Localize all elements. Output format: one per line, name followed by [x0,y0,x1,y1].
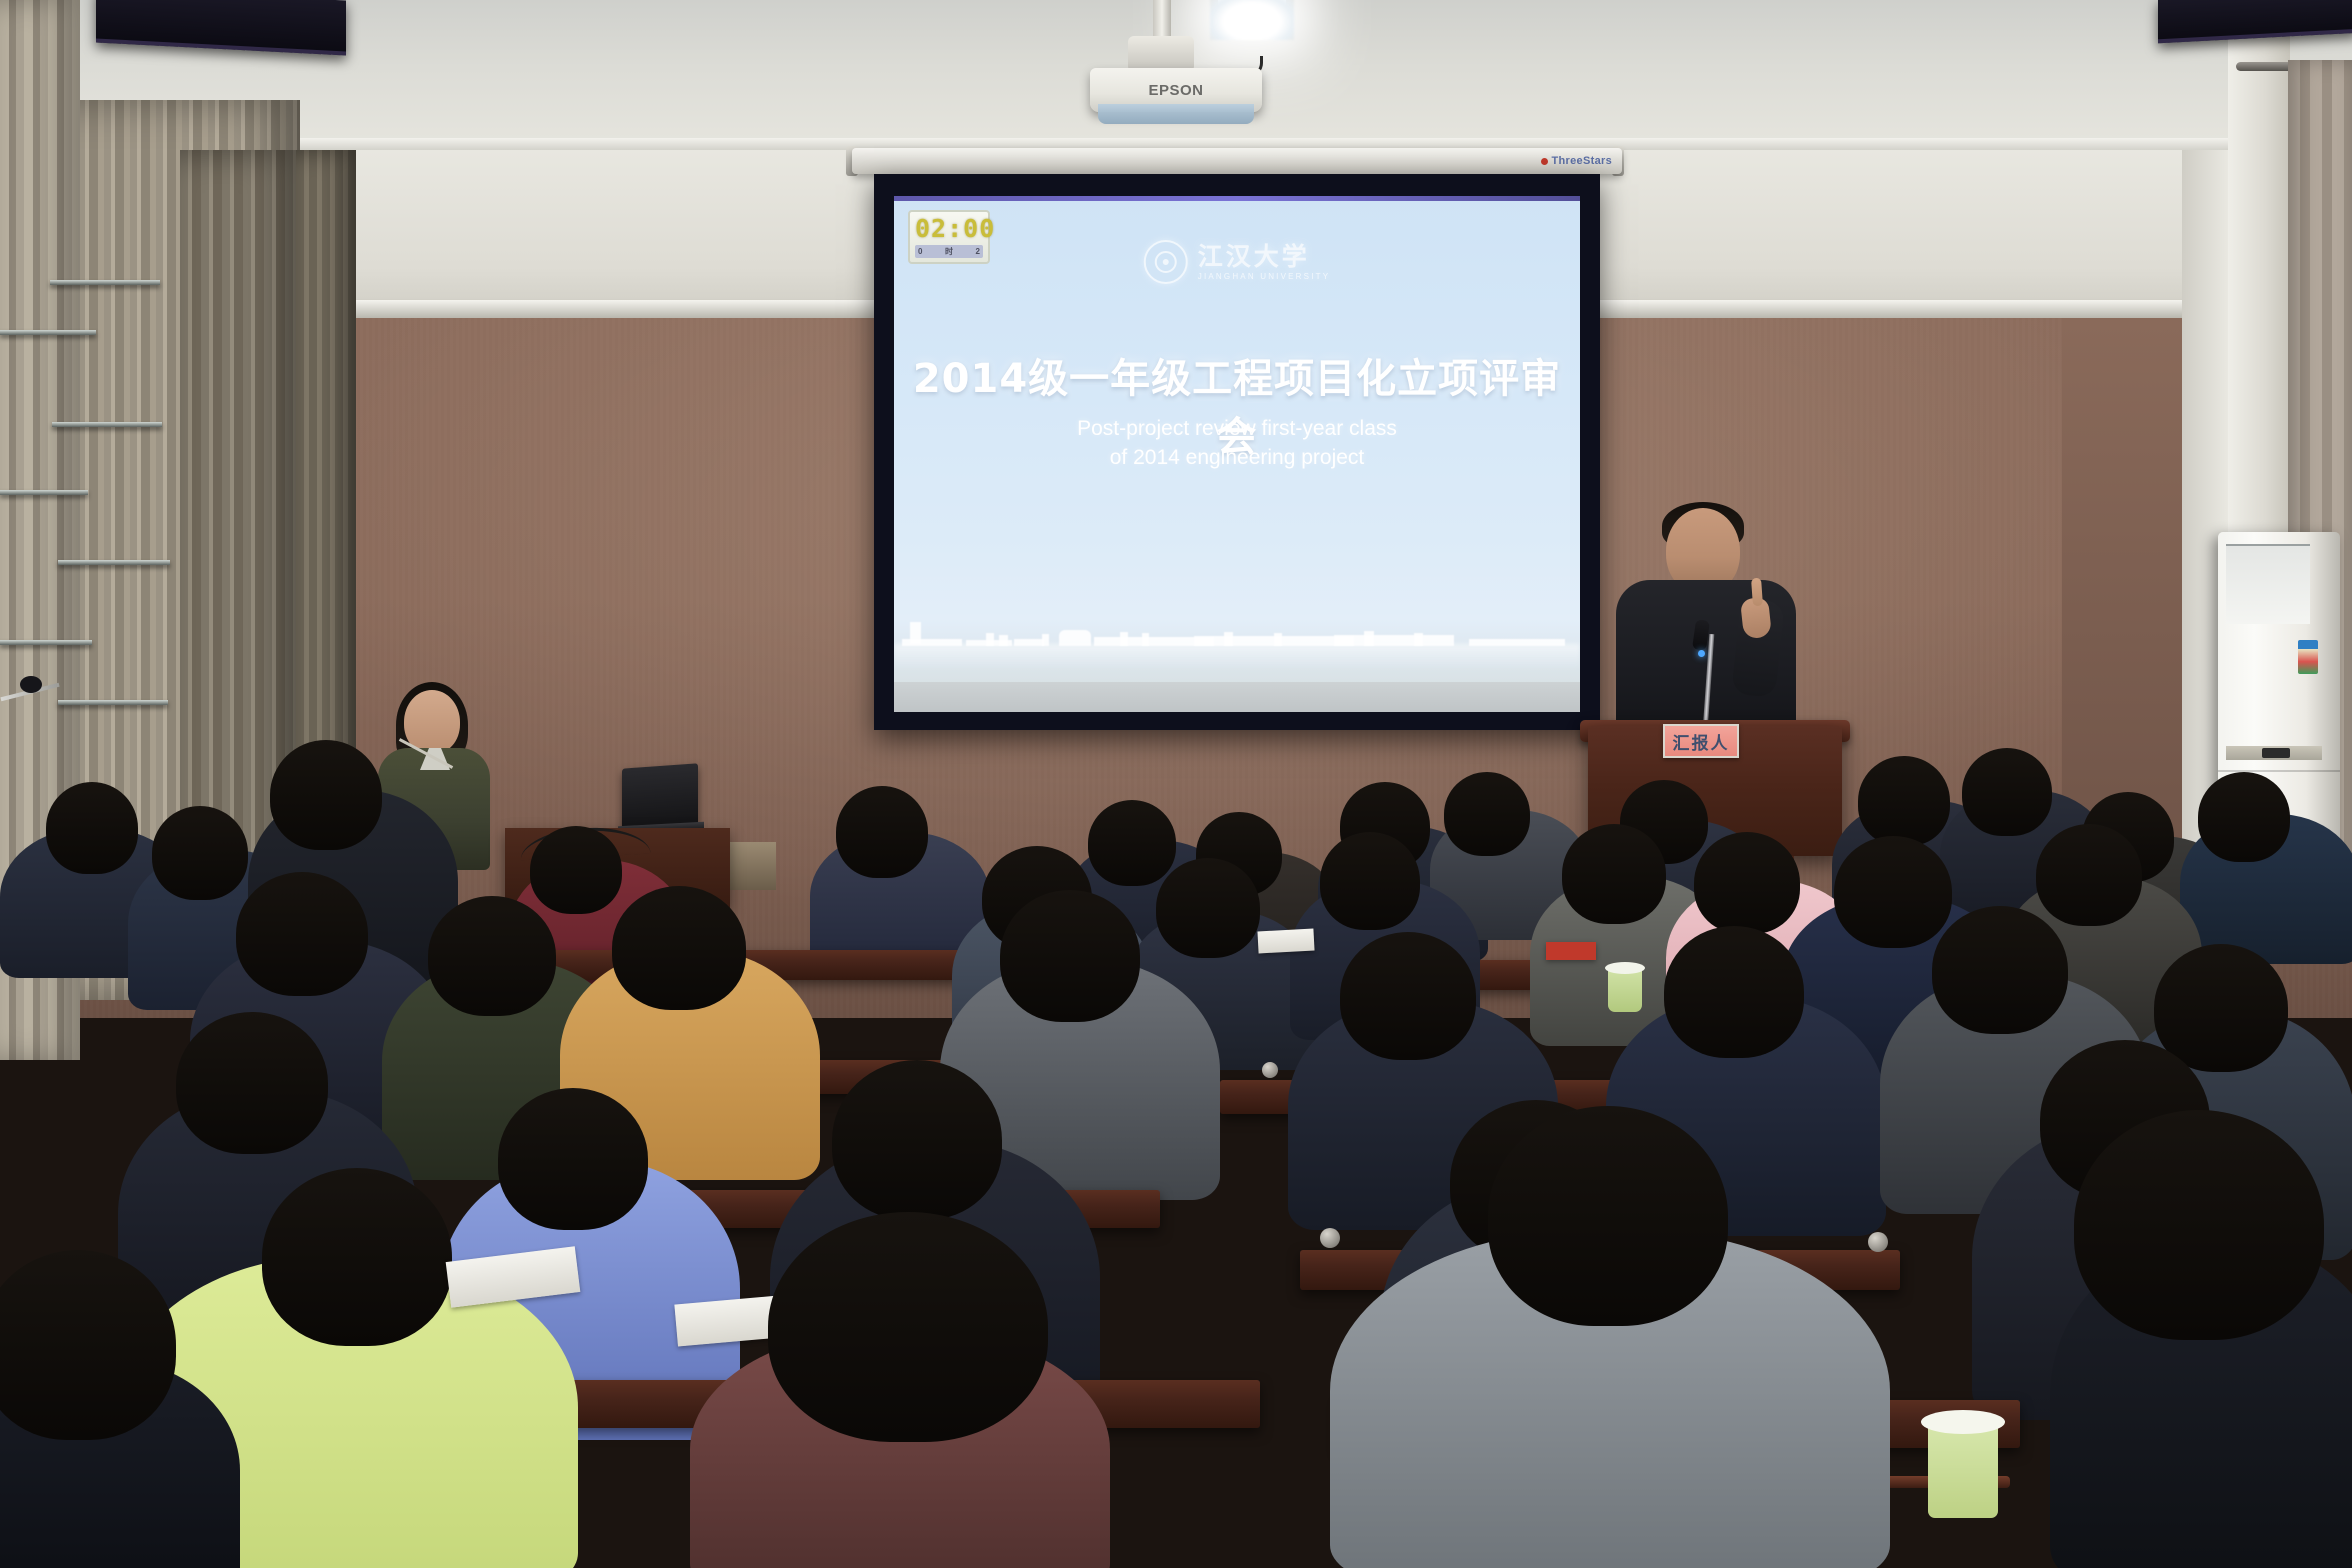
university-name-cn: 江汉大学 [1198,244,1310,269]
audience-head [1834,836,1952,948]
audience-head [1088,800,1176,886]
audience-head [262,1168,452,1346]
projector-brand-label: EPSON [1148,82,1203,99]
audience-head [1488,1106,1728,1326]
slide-water-reflection [894,644,1580,668]
timer-left-label: 0 [918,247,922,256]
audience-head [1000,890,1140,1022]
red-folder [1546,942,1596,960]
audience-head [46,782,138,874]
audience-head [236,872,368,996]
university-logo: 江汉大学 JIANGHAN UNIVERSITY [1144,240,1330,284]
audience-head [2074,1110,2324,1340]
timer-digits: 02:00 [915,216,983,241]
audience-head [1340,932,1476,1060]
projector-lens [1098,104,1254,124]
audience-head [1932,906,2068,1034]
screen-brand-label: ThreeStars [1541,155,1612,167]
audience-head [2154,944,2288,1072]
countdown-timer: 02:00 0 时 2 [908,210,990,264]
audience-head [832,1060,1002,1220]
audience-head [2036,824,2142,926]
audience-head [1444,772,1530,856]
timer-right-label: 2 [976,247,980,256]
audience-head [270,740,382,850]
timer-status-bar: 0 时 2 [915,245,983,258]
university-wordmark: 江汉大学 JIANGHAN UNIVERSITY [1198,244,1330,281]
slide-subtitle-line2: of 2014 engineering project [894,443,1580,472]
wall-shelf [0,490,88,495]
projection-screen-housing: ThreeStars [852,148,1622,174]
laptop-screen [622,763,698,830]
audience-head [1694,832,1800,934]
university-seal-icon [1144,240,1188,284]
bench-knob [1868,1232,1888,1252]
wall-shelf [58,700,168,705]
audience-head [2198,772,2290,862]
audience-head [498,1088,648,1230]
lecture-hall-photo: EPSON ThreeStars 02:00 0 时 2 江汉大学 JIANGH… [0,0,2352,1568]
timer-center-label: 时 [945,246,953,257]
paper-cup-rim [1605,962,1645,974]
wall-shelf [52,422,162,427]
handout-paper [1257,929,1314,954]
screen-brand-dot-icon [1541,158,1548,165]
audience-head [1320,832,1420,930]
audience-head [768,1212,1048,1442]
air-conditioner-grille [2226,544,2310,624]
slide-subtitle-line1: Post-project review first-year class [894,414,1580,443]
air-conditioner-display [2262,748,2290,758]
audience-head [428,896,556,1016]
projector-mount-head [1128,36,1194,72]
audience-head [152,806,248,900]
university-name-en: JIANGHAN UNIVERSITY [1198,272,1330,281]
slide-top-edge [894,196,1580,201]
handout-paper [674,1296,781,1347]
audience-head [1962,748,2052,836]
wall-shelf [58,560,170,565]
audience-head [1562,824,1666,924]
wall-shelf [50,280,160,285]
projected-slide: 02:00 0 时 2 江汉大学 JIANGHAN UNIVERSITY 201… [894,196,1580,712]
podium-sign-text: 汇报人 [1673,729,1730,754]
audience-head [1858,756,1950,846]
slide-subtitle: Post-project review first-year class of … [894,414,1580,472]
bench-knob [1320,1228,1340,1248]
audience-head [176,1012,328,1154]
wall-shelf [0,330,96,335]
audience-head [530,826,622,914]
audience-head [836,786,928,878]
audience-head [1664,926,1804,1058]
side-microphone-icon [20,676,42,693]
audience-head [612,886,746,1010]
slide-skyline-image [894,608,1580,668]
paper-cup-rim [1921,1410,2005,1434]
bench-knob [1262,1062,1278,1078]
podium-presenter-sign: 汇报人 [1663,724,1739,758]
podium-microphone-led [1698,650,1705,657]
wall-shelf [0,640,92,645]
energy-label-sticker [2298,640,2318,674]
slide-bottom-band [894,682,1580,712]
ceiling-light-glow [1210,0,1294,40]
paper-cup [1928,1420,1998,1518]
audience-head [1156,858,1260,958]
presenter-finger [1751,578,1763,607]
